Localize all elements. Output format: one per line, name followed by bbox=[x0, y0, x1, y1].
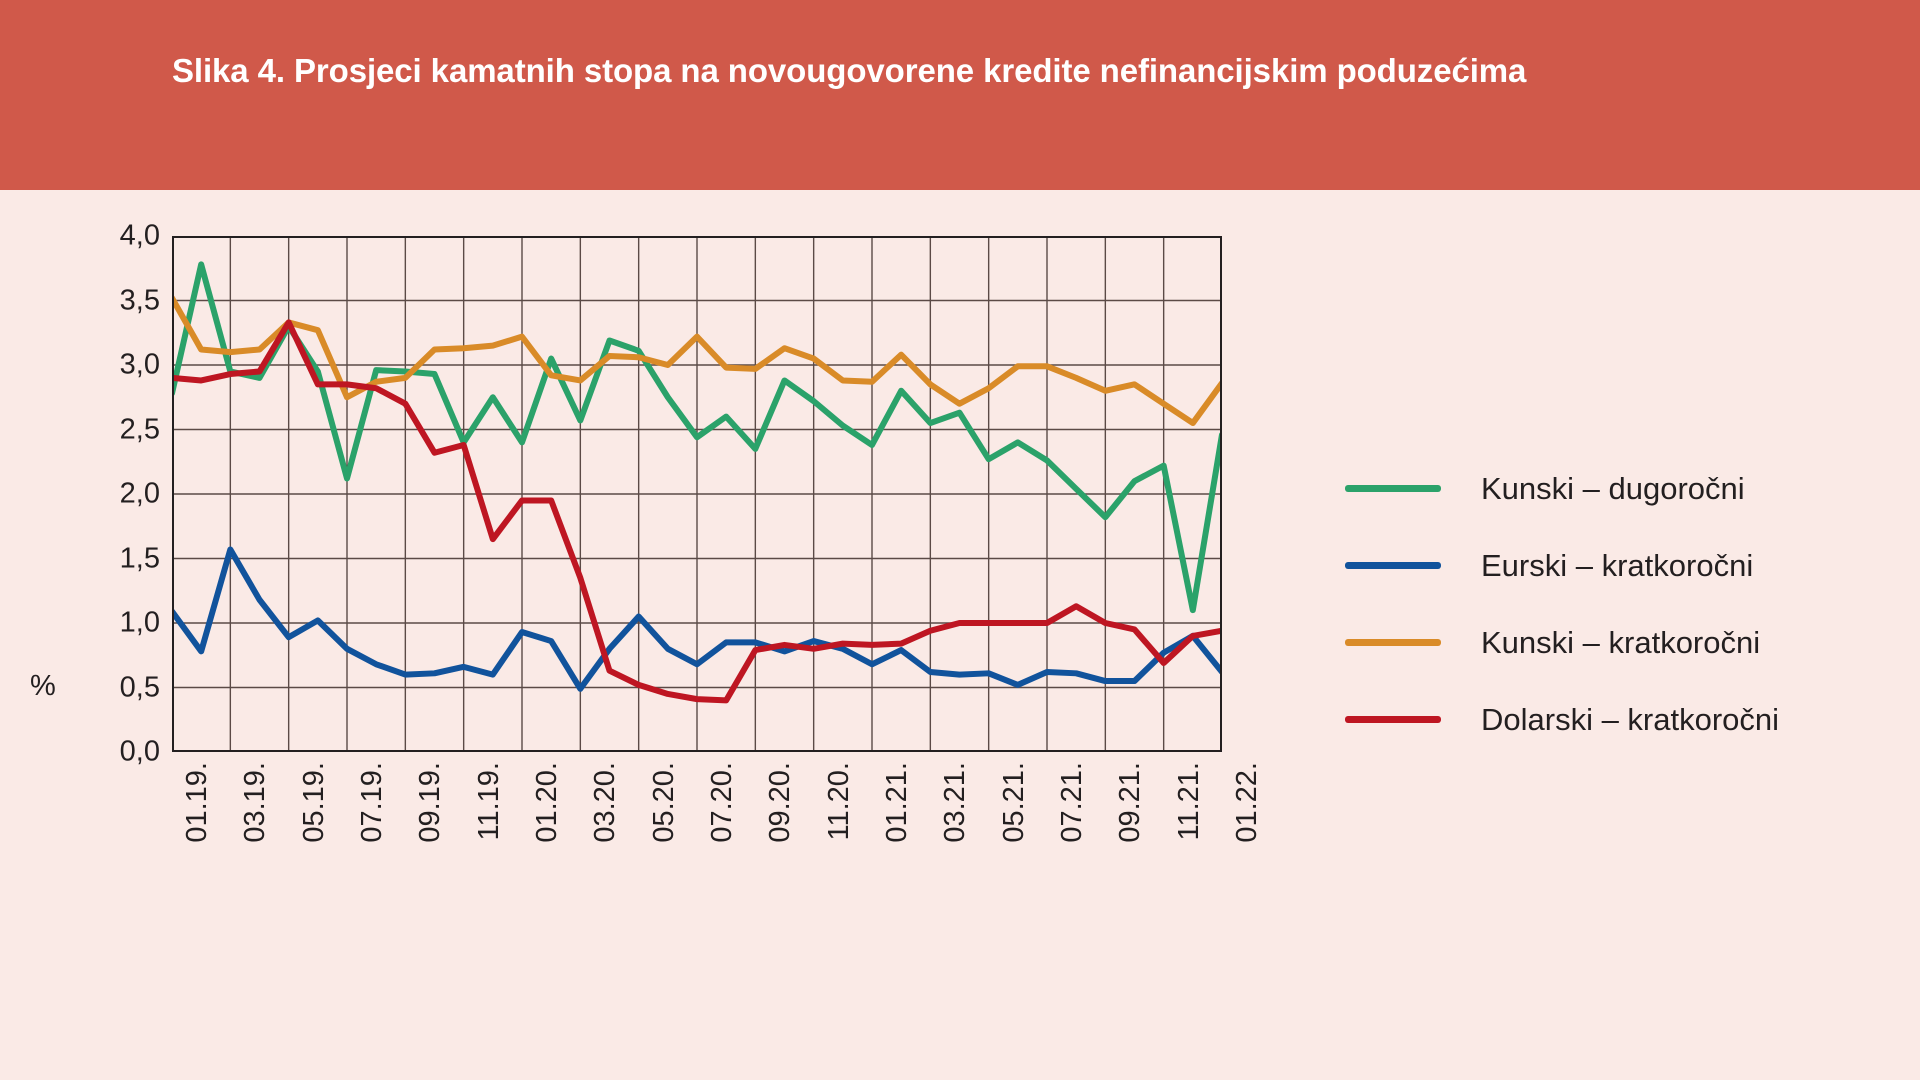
x-tick-label: 01.19. bbox=[183, 762, 212, 843]
legend-item[interactable]: Eurski – kratkoročni bbox=[1345, 527, 1885, 604]
y-tick-label: 3,5 bbox=[90, 286, 160, 315]
legend-item-label: Kunski – kratkoročni bbox=[1481, 625, 1760, 661]
line-chart-svg bbox=[172, 236, 1222, 752]
legend-color-swatch bbox=[1345, 639, 1441, 646]
x-tick-label: 07.21. bbox=[1058, 762, 1087, 843]
x-tick-label: 01.22. bbox=[1233, 762, 1262, 843]
legend-color-swatch bbox=[1345, 485, 1441, 492]
x-tick-label: 11.19. bbox=[475, 762, 504, 840]
x-tick-label: 05.19. bbox=[300, 762, 329, 843]
legend-item-label: Eurski – kratkoročni bbox=[1481, 548, 1753, 584]
x-tick-label: 05.20. bbox=[650, 762, 679, 843]
y-tick-label: 2,5 bbox=[90, 415, 160, 444]
legend-item-label: Kunski – dugoročni bbox=[1481, 471, 1745, 507]
figure-page: Slika 4. Prosjeci kamatnih stopa na novo… bbox=[0, 0, 1920, 1080]
x-tick-label: 07.19. bbox=[358, 762, 387, 843]
x-tick-label: 01.21. bbox=[883, 762, 912, 843]
header-band: Slika 4. Prosjeci kamatnih stopa na novo… bbox=[0, 0, 1920, 190]
chart-figure: % 4,03,53,02,52,01,51,00,50,0 01.19.03.1… bbox=[0, 190, 1920, 1080]
x-tick-label: 03.19. bbox=[241, 762, 270, 843]
x-tick-label: 03.20. bbox=[591, 762, 620, 843]
y-tick-label: 0,5 bbox=[90, 673, 160, 702]
x-tick-label: 11.20. bbox=[825, 762, 854, 840]
page-title: Slika 4. Prosjeci kamatnih stopa na novo… bbox=[172, 48, 1672, 94]
x-tick-label: 09.21. bbox=[1116, 762, 1145, 843]
y-tick-label: 3,0 bbox=[90, 351, 160, 380]
y-tick-label: 0,0 bbox=[90, 738, 160, 767]
y-axis-ticks: 4,03,53,02,52,01,51,00,50,0 bbox=[80, 236, 160, 752]
y-tick-label: 1,5 bbox=[90, 544, 160, 573]
chart-legend: Kunski – dugoročniEurski – kratkoročniKu… bbox=[1345, 450, 1885, 758]
x-tick-label: 05.21. bbox=[1000, 762, 1029, 843]
x-tick-label: 09.19. bbox=[416, 762, 445, 843]
legend-item[interactable]: Kunski – dugoročni bbox=[1345, 450, 1885, 527]
plot-area bbox=[172, 236, 1222, 752]
legend-color-swatch bbox=[1345, 562, 1441, 569]
legend-item[interactable]: Kunski – kratkoročni bbox=[1345, 604, 1885, 681]
y-tick-label: 1,0 bbox=[90, 609, 160, 638]
legend-item-label: Dolarski – kratkoročni bbox=[1481, 702, 1779, 738]
x-tick-label: 11.21. bbox=[1175, 762, 1204, 840]
x-axis-ticks: 01.19.03.19.05.19.07.19.09.19.11.19.01.2… bbox=[172, 762, 1222, 912]
legend-color-swatch bbox=[1345, 716, 1441, 723]
legend-item[interactable]: Dolarski – kratkoročni bbox=[1345, 681, 1885, 758]
y-tick-label: 2,0 bbox=[90, 480, 160, 509]
y-axis-unit-label: % bbox=[30, 670, 56, 703]
y-tick-label: 4,0 bbox=[90, 222, 160, 251]
x-tick-label: 07.20. bbox=[708, 762, 737, 843]
x-tick-label: 01.20. bbox=[533, 762, 562, 843]
x-tick-label: 09.20. bbox=[766, 762, 795, 843]
x-tick-label: 03.21. bbox=[941, 762, 970, 843]
